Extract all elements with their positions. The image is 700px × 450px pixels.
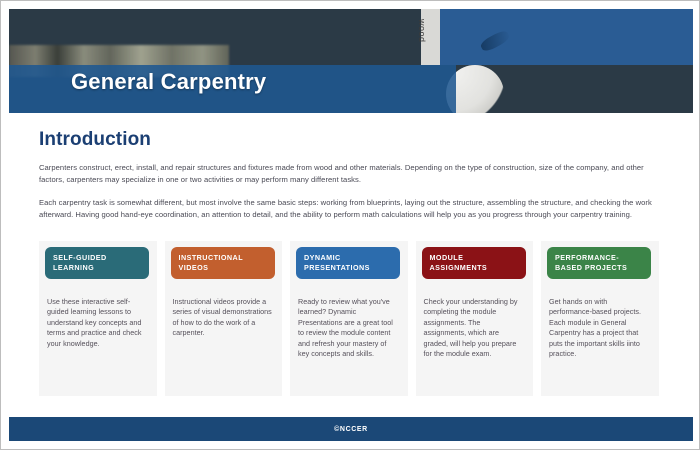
card-header-dynamic-presentations: DYNAMIC PRESENTATIONS [296,247,400,279]
banner-blue-tile [440,9,693,65]
section-heading-introduction: Introduction [39,129,700,151]
card-body-dynamic-presentations: Ready to review what you've learned? Dyn… [298,297,398,359]
banner-wood-label: wood [417,19,427,43]
feature-card[interactable]: MODULE ASSIGNMENTS Check your understand… [416,241,534,396]
course-page: wood General Carpentry Introduction Carp… [0,0,700,450]
feature-card-list: SELF-GUIDED LEARNING Use these interacti… [39,241,665,396]
card-body-performance-based-projects: Get hands on with performance-based proj… [549,297,649,359]
card-body-self-guided-learning: Use these interactive self-guided learni… [47,297,147,349]
intro-paragraph-2: Each carpentry task is somewhat differen… [39,197,663,220]
feature-card[interactable]: INSTRUCTIONAL VIDEOS Instructional video… [165,241,283,396]
card-header-instructional-videos: INSTRUCTIONAL VIDEOS [171,247,275,279]
feature-card[interactable]: DYNAMIC PRESENTATIONS Ready to review wh… [290,241,408,396]
feature-card[interactable]: SELF-GUIDED LEARNING Use these interacti… [39,241,157,396]
page-footer: ©NCCER [9,417,693,441]
feature-card[interactable]: PERFORMANCE-BASED PROJECTS Get hands on … [541,241,659,396]
page-title: General Carpentry [71,69,266,95]
card-header-self-guided-learning: SELF-GUIDED LEARNING [45,247,149,279]
card-header-module-assignments: MODULE ASSIGNMENTS [422,247,526,279]
main-content: Introduction Carpenters construct, erect… [1,113,700,220]
card-body-instructional-videos: Instructional videos provide a series of… [173,297,273,339]
card-body-module-assignments: Check your understanding by completing t… [424,297,524,359]
intro-paragraph-1: Carpenters construct, erect, install, an… [39,162,663,185]
course-banner: wood [9,9,693,113]
card-header-performance-based-projects: PERFORMANCE-BASED PROJECTS [547,247,651,279]
copyright-label: ©NCCER [334,426,368,433]
